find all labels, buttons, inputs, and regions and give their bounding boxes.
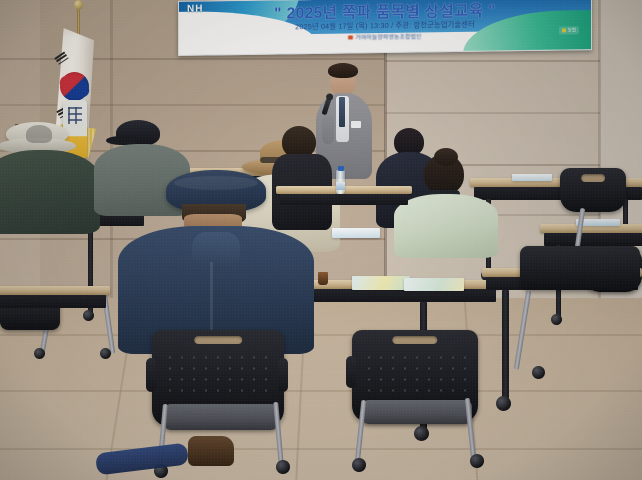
slide-organizer-text: 거여마늘양파영농조합법인 bbox=[355, 34, 421, 41]
hat-band bbox=[26, 125, 52, 143]
hair-bun-icon bbox=[434, 148, 458, 166]
flag-finial-icon bbox=[74, 0, 83, 10]
chair-caster bbox=[470, 454, 484, 468]
projection-screen: NH NongHyup " 2025년 쪽파 품목별 상설교육 " 2025년 … bbox=[178, 0, 592, 56]
speaker-pocket-square bbox=[351, 121, 361, 128]
organizer-mark-icon bbox=[348, 36, 353, 40]
brochure bbox=[512, 174, 552, 181]
chair-armrest-left bbox=[346, 356, 356, 388]
jacket-seam bbox=[210, 262, 213, 332]
desk-left-lower bbox=[0, 286, 110, 310]
chair-armrest-right bbox=[278, 358, 288, 392]
chair-caster bbox=[34, 348, 45, 359]
chair-right-mid bbox=[520, 246, 640, 290]
slide-right-badge: 농협 bbox=[559, 26, 579, 34]
shoe bbox=[188, 436, 234, 466]
chair-caster bbox=[100, 348, 111, 359]
brochure bbox=[352, 276, 410, 290]
chair-caster bbox=[532, 366, 545, 379]
chair-caster bbox=[276, 460, 290, 474]
jacket-collar bbox=[192, 232, 240, 268]
chair-seat-foreground-left bbox=[164, 404, 278, 430]
speaker-hair bbox=[328, 63, 358, 78]
badge-dot-icon bbox=[562, 28, 566, 32]
floor bbox=[0, 298, 642, 480]
chair-seat-foreground-right bbox=[362, 400, 472, 424]
person-white-hat bbox=[0, 122, 104, 232]
cap-highlight bbox=[174, 176, 258, 190]
brochure bbox=[332, 228, 380, 238]
green-jacket bbox=[0, 150, 100, 234]
chair-armrest-left bbox=[146, 358, 156, 392]
water-bottle bbox=[336, 170, 345, 194]
paper-cup bbox=[318, 272, 328, 285]
brochure bbox=[404, 278, 464, 291]
chair-empty-right-back bbox=[560, 168, 626, 212]
speaker-tie bbox=[339, 97, 345, 127]
chair-caster bbox=[352, 458, 366, 472]
lecture-hall-photo: NH NongHyup " 2025년 쪽파 품목별 상설교육 " 2025년 … bbox=[0, 0, 642, 480]
